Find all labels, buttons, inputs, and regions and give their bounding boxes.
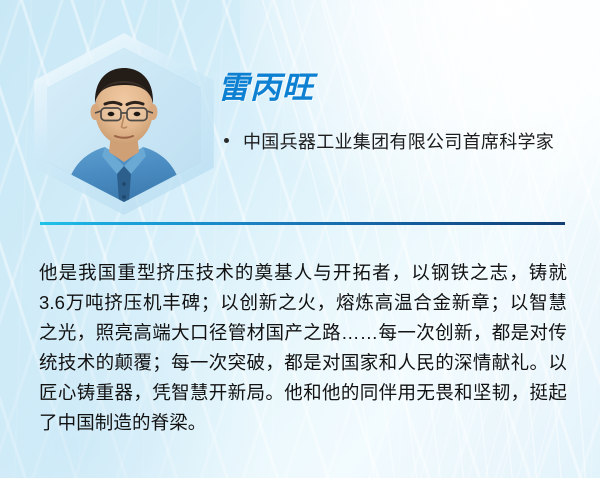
top-right-light-wash [240,0,600,220]
person-title: 中国兵器工业集团有限公司首席科学家 [243,127,554,157]
divider [40,222,565,225]
person-title-row: 中国兵器工业集团有限公司首席科学家 [224,127,574,157]
bullet-icon [224,138,229,143]
description-paragraph: 他是我国重型挤压技术的奠基人与开拓者，以钢铁之志，铸就3.6万吨挤压机丰碑；以创… [39,258,567,438]
page-title: 雷丙旺 [218,72,314,103]
avatar [34,33,214,215]
profile-card: 雷丙旺 中国兵器工业集团有限公司首席科学家 他是我国重型挤压技术的奠基人与开拓者… [0,0,600,478]
